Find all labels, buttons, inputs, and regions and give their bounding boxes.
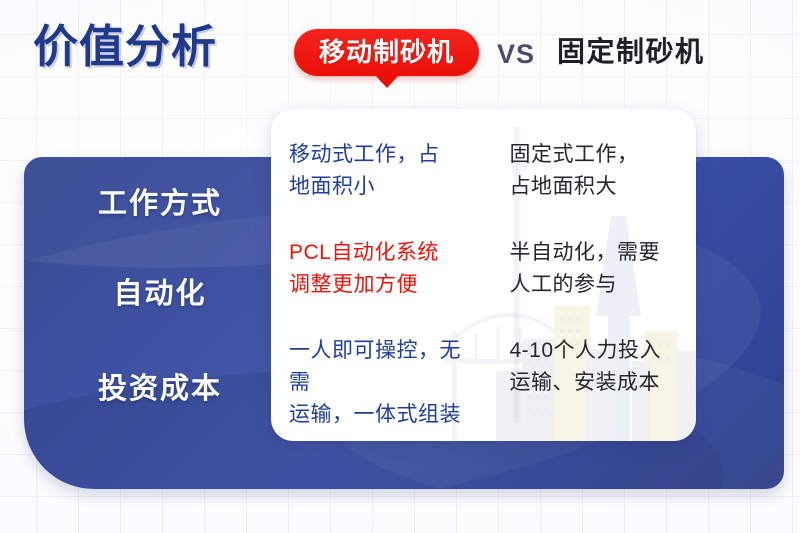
- fixed-cell-automation: 半自动化，需要 人工的参与: [510, 237, 689, 301]
- fixed-cell-investment-cost: 4-10个人力投入 运输、安装成本: [510, 335, 689, 399]
- header: 价值分析 移动制砂机 VS 固定制砂机: [0, 0, 800, 110]
- mobile-machine-column: 移动式工作，占 地面积小 PCL自动化系统 调整更加方便 一人即可操控，无需 运…: [271, 109, 484, 441]
- poster-root: 价值分析 移动制砂机 VS 固定制砂机 工作方式 自动化 投资成本: [0, 0, 800, 533]
- mobile-cell-working-mode: 移动式工作，占 地面积小: [289, 139, 476, 203]
- page-title: 价值分析: [33, 24, 217, 69]
- fixed-machine-column: 固定式工作， 占地面积大 半自动化，需要 人工的参与 4-10个人力投入 运输、…: [484, 109, 697, 441]
- fixed-machine-title: 固定制砂机: [557, 38, 705, 66]
- mobile-cell-investment-cost: 一人即可操控，无需 运输，一体式组装: [289, 335, 476, 431]
- comparison-card: 移动式工作，占 地面积小 PCL自动化系统 调整更加方便 一人即可操控，无需 运…: [271, 109, 696, 441]
- mobile-badge[interactable]: 移动制砂机: [294, 29, 479, 76]
- row-label-investment-cost: 投资成本: [60, 375, 260, 404]
- mobile-badge-body[interactable]: 移动制砂机: [294, 29, 479, 76]
- comparison-columns: 移动式工作，占 地面积小 PCL自动化系统 调整更加方便 一人即可操控，无需 运…: [271, 109, 696, 441]
- row-label-automation: 自动化: [60, 280, 260, 309]
- badge-pointer-icon: [375, 75, 399, 88]
- vs-separator-label: VS: [497, 41, 535, 68]
- row-label-working-mode: 工作方式: [60, 190, 260, 219]
- fixed-cell-working-mode: 固定式工作， 占地面积大: [510, 139, 689, 203]
- mobile-cell-automation: PCL自动化系统 调整更加方便: [289, 237, 476, 301]
- mobile-badge-label: 移动制砂机: [319, 39, 454, 65]
